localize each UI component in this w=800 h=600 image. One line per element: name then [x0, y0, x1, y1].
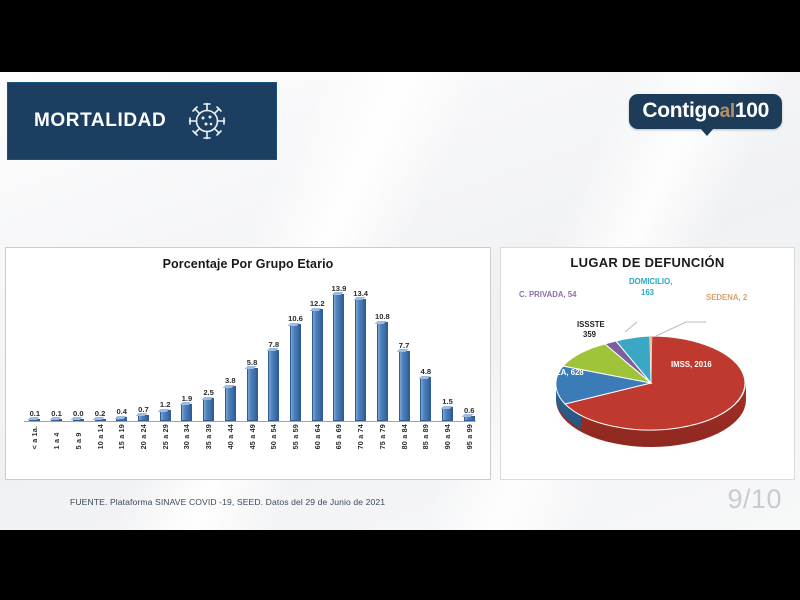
bar-x-label: 95 a 99 — [458, 424, 480, 449]
bar-column: 13.9 — [328, 281, 350, 421]
screenshot-stage: MORTALIDAD — [0, 0, 800, 600]
bar — [160, 410, 171, 421]
page-title: MORTALIDAD — [34, 110, 166, 132]
bar — [355, 299, 366, 422]
bar-chart-plot: 0.10.10.00.20.40.71.21.92.53.85.87.810.6… — [24, 281, 480, 421]
bar — [399, 351, 410, 421]
pie-chart-panel: LUGAR DE DEFUNCIÓN — [500, 247, 795, 480]
pie-label-issea: ISSEA, 628 — [543, 368, 584, 377]
bar-x-label: 60 a 64 — [306, 424, 328, 449]
bar-x-label: 85 a 89 — [415, 424, 437, 449]
bar-x-label: 30 a 34 — [176, 424, 198, 449]
bar-column: 0.6 — [458, 281, 480, 421]
bar — [333, 294, 344, 421]
bar-column: 1.5 — [437, 281, 459, 421]
bar-x-label: 10 a 14 — [89, 424, 111, 449]
bar-value-label: 3.8 — [225, 376, 236, 385]
bar — [420, 377, 431, 421]
bar-x-label: 35 a 39 — [198, 424, 220, 449]
pie-label-domicilio: DOMICILIO, — [629, 277, 672, 286]
bar-x-label: 20 a 24 — [133, 424, 155, 449]
bar-column: 0.0 — [67, 281, 89, 421]
bar-x-label: 1 a 4 — [46, 424, 68, 449]
bar — [268, 350, 279, 421]
bar — [203, 398, 214, 421]
bar-chart-x-labels: < a 1a.1 a 45 a 910 a 1415 a 1920 a 2425… — [24, 424, 480, 449]
bar-value-label: 4.8 — [421, 367, 432, 376]
bar-x-label: 70 a 74 — [350, 424, 372, 449]
pie-label-imss: IMSS, 2016 — [671, 360, 712, 369]
pie-label-issste: ISSSTE — [577, 320, 605, 329]
pie-label-c-privada: C. PRIVADA, 54 — [519, 290, 576, 299]
bar-column: 10.6 — [285, 281, 307, 421]
bar-column: 12.2 — [306, 281, 328, 421]
pie-label-sedena: SEDENA, 2 — [706, 293, 747, 302]
bar-column: 3.8 — [219, 281, 241, 421]
bar-column: 4.8 — [415, 281, 437, 421]
bar-value-label: 0.4 — [116, 407, 127, 416]
logo-text-contigo: Contigo — [642, 99, 719, 123]
bar-value-label: 10.6 — [288, 314, 303, 323]
bar-x-label: 90 a 94 — [437, 424, 459, 449]
bar-value-label: 1.5 — [442, 397, 453, 406]
bar-x-label: 65 a 69 — [328, 424, 350, 449]
bar-column: 0.1 — [24, 281, 46, 421]
page-number: 9/10 — [727, 484, 782, 515]
slide-title-banner: MORTALIDAD — [7, 82, 277, 160]
bar — [312, 309, 323, 421]
bar-chart-title: Porcentaje Por Grupo Etario — [6, 257, 490, 271]
bar-column: 0.4 — [111, 281, 133, 421]
bar-x-label: 45 a 49 — [241, 424, 263, 449]
bar — [181, 404, 192, 421]
bar-value-label: 1.2 — [160, 400, 171, 409]
bar-column: 7.8 — [263, 281, 285, 421]
source-footnote: FUENTE. Plataforma SINAVE COVID -19, SEE… — [70, 497, 385, 507]
bar-x-label: 80 a 84 — [393, 424, 415, 449]
bar-column: 0.7 — [133, 281, 155, 421]
bar-column: 1.2 — [154, 281, 176, 421]
bar-value-label: 2.5 — [203, 388, 214, 397]
bar-column: 0.1 — [46, 281, 68, 421]
brand-logo: Contigo al 100 — [629, 94, 782, 129]
bar-x-label: 55 a 59 — [285, 424, 307, 449]
bar — [247, 368, 258, 421]
bar-chart-panel: Porcentaje Por Grupo Etario 0.10.10.00.2… — [5, 247, 491, 480]
bar — [377, 322, 388, 421]
logo-text-100: 100 — [735, 99, 769, 123]
bar-value-label: 10.8 — [375, 312, 390, 321]
bar-x-label: 25 a 29 — [154, 424, 176, 449]
bar-column: 7.7 — [393, 281, 415, 421]
bar-column: 5.8 — [241, 281, 263, 421]
presentation-slide: MORTALIDAD — [0, 72, 800, 530]
bar-column: 2.5 — [198, 281, 220, 421]
bar — [290, 324, 301, 421]
bar-column: 13.4 — [350, 281, 372, 421]
bar-chart-axis — [24, 421, 476, 422]
bar-x-label: 5 a 9 — [67, 424, 89, 449]
logo-text-al: al — [720, 101, 735, 123]
bar — [225, 386, 236, 421]
virus-icon — [184, 98, 230, 144]
pie-chart-plot: C. PRIVADA, 54 DOMICILIO, 163 SEDENA, 2 … — [501, 248, 794, 479]
bar — [442, 407, 453, 421]
pie-label-domicilio-value: 163 — [641, 288, 654, 297]
bar-x-label: 75 a 79 — [372, 424, 394, 449]
pie-label-issste-value: 359 — [583, 330, 596, 339]
bar-column: 10.8 — [372, 281, 394, 421]
bar-x-label: 40 a 44 — [219, 424, 241, 449]
bar-column: 0.2 — [89, 281, 111, 421]
bar-x-label: < a 1a. — [24, 424, 46, 449]
bar-x-label: 15 a 19 — [111, 424, 133, 449]
bar-x-label: 50 a 54 — [263, 424, 285, 449]
bar-column: 1.9 — [176, 281, 198, 421]
